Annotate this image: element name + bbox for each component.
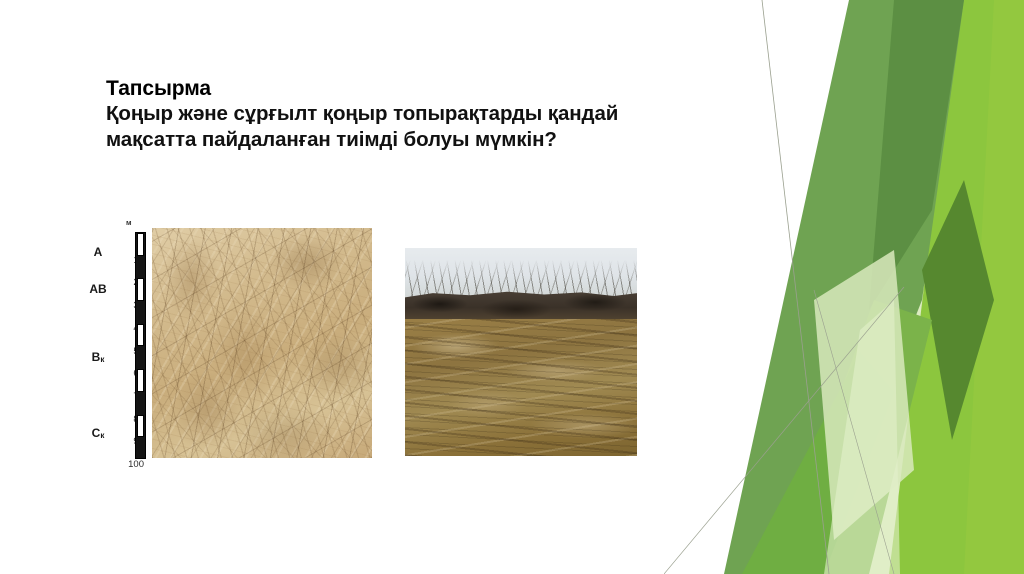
horizon-label-a: A [76,245,120,259]
photo-subsoil-layer [405,319,637,456]
facet-bright-column-2 [964,0,1024,574]
facet-pale-wedge-2 [784,0,994,574]
horizon-label-ab: AB [76,282,120,296]
facet-hairline-3 [814,290,894,574]
facet-hairline-1 [762,0,829,574]
depth-tick: 100 [118,460,144,469]
scale-segment [137,415,144,438]
soil-profile-figure: AABBкCк 0102030405060708090100 м [76,222,376,462]
facet-pale-wedge-1 [814,0,1024,574]
scale-segment [137,278,144,301]
horizon-label-c: Cк [76,426,120,440]
facet-light-band [774,300,932,574]
soil-profile-photo-cracked [152,228,372,458]
horizon-label-b: Bк [76,350,120,364]
facet-light-band-2 [742,352,894,574]
facet-bright-column [889,0,1024,574]
facet-dark-wedge [869,0,964,310]
scale-segment [137,233,144,256]
facet-pale-overlay-1 [814,250,914,540]
presentation-slide: Тапсырма Қоңыр және сұрғылт қоңыр топыра… [0,0,1024,574]
horizon-label-group: AABBкCк [76,228,120,460]
slide-text-block: Тапсырма Қоңыр және сұрғылт қоңыр топыра… [106,76,726,153]
facet-pale-overlay-2 [824,300,900,574]
scale-segment [137,324,144,347]
question-line-1: Қоңыр және сұрғылт қоңыр топырақтарды қа… [106,101,726,127]
facet-mid-wedge [724,0,964,574]
question-line-2: мақсатта пайдаланған тиімді болуы мүмкін… [106,127,726,153]
scale-segment [137,369,144,392]
depth-unit-label: м [126,218,132,227]
soil-excavation-photo [405,248,637,456]
soil-photo-cracks [152,228,372,458]
page-title: Тапсырма [106,76,726,101]
facet-dark-wedge-2 [922,180,994,440]
facet-hairline-2 [664,287,904,574]
depth-scale-bar [135,232,146,459]
